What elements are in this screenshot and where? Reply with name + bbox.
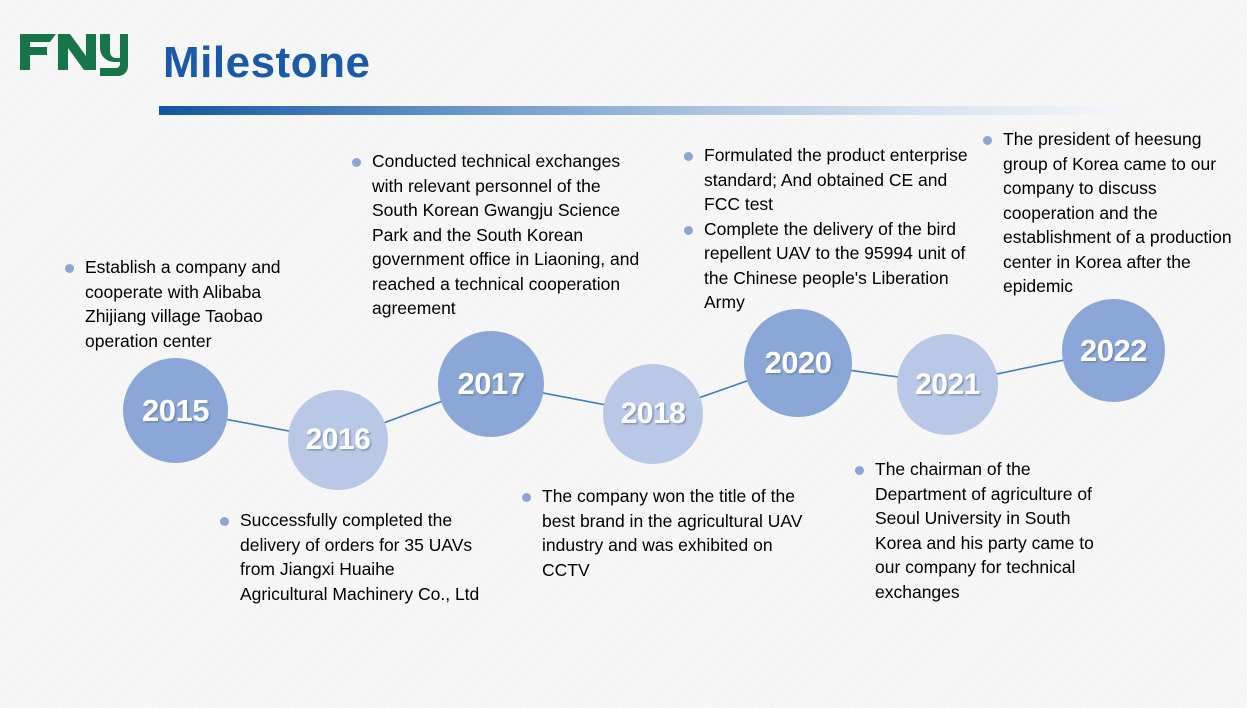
timeline-node-2022[interactable]: 2022 [1062, 299, 1165, 402]
timeline-node-2021[interactable]: 2021 [897, 334, 998, 435]
timeline-node-2015[interactable]: 2015 [123, 358, 228, 463]
bullet-text: The company won the title of the best br… [542, 484, 817, 582]
page-title: Milestone [163, 38, 370, 88]
milestone-note-2018: The company won the title of the best br… [522, 484, 817, 582]
milestone-note-2016: Successfully completed the delivery of o… [220, 508, 482, 606]
milestone-note-2022: The president of heesung group of Korea … [983, 127, 1233, 299]
timeline-node-label: 2015 [142, 393, 209, 429]
bullet-dot-icon [352, 158, 361, 167]
milestone-note-2015: Establish a company and cooperate with A… [65, 255, 315, 353]
bullet-item: Complete the delivery of the bird repell… [684, 217, 980, 315]
bullet-item: The president of heesung group of Korea … [983, 127, 1233, 299]
timeline-node-2020[interactable]: 2020 [744, 309, 852, 417]
milestone-note-2017: Conducted technical exchanges with relev… [352, 149, 645, 321]
bullet-text: The president of heesung group of Korea … [1003, 127, 1233, 299]
bullet-item: Successfully completed the delivery of o… [220, 508, 482, 606]
timeline-node-label: 2017 [458, 366, 525, 402]
bullet-item: Conducted technical exchanges with relev… [352, 149, 645, 321]
milestone-note-2020: Formulated the product enterprise standa… [684, 143, 980, 315]
bullet-dot-icon [684, 226, 693, 235]
bullet-text: Conducted technical exchanges with relev… [372, 149, 645, 321]
bullet-text: Complete the delivery of the bird repell… [704, 217, 980, 315]
timeline-node-label: 2020 [765, 345, 832, 381]
bullet-item: The chairman of the Department of agricu… [855, 457, 1120, 604]
bullet-dot-icon [65, 264, 74, 273]
timeline-node-2017[interactable]: 2017 [438, 331, 544, 437]
bullet-item: Formulated the product enterprise standa… [684, 143, 980, 217]
milestone-note-2021: The chairman of the Department of agricu… [855, 457, 1120, 604]
bullet-item: Establish a company and cooperate with A… [65, 255, 315, 353]
fny-logo-icon [16, 22, 128, 78]
bullet-text: The chairman of the Department of agricu… [875, 457, 1120, 604]
timeline-node-label: 2022 [1080, 333, 1147, 369]
title-underline-bar [159, 106, 1235, 115]
bullet-dot-icon [983, 136, 992, 145]
timeline-node-label: 2018 [621, 397, 686, 431]
bullet-text: Formulated the product enterprise standa… [704, 143, 980, 217]
timeline-node-label: 2016 [306, 423, 371, 457]
timeline-node-2018[interactable]: 2018 [603, 364, 703, 464]
bullet-item: The company won the title of the best br… [522, 484, 817, 582]
bullet-dot-icon [522, 493, 531, 502]
timeline-node-label: 2021 [915, 368, 980, 402]
bullet-text: Establish a company and cooperate with A… [85, 255, 315, 353]
bullet-text: Successfully completed the delivery of o… [240, 508, 482, 606]
timeline-node-2016[interactable]: 2016 [288, 390, 388, 490]
bullet-dot-icon [855, 466, 864, 475]
bullet-dot-icon [684, 152, 693, 161]
bullet-dot-icon [220, 517, 229, 526]
milestone-slide: Milestone 2015 2016 2017 2018 2020 2021 … [0, 0, 1247, 708]
